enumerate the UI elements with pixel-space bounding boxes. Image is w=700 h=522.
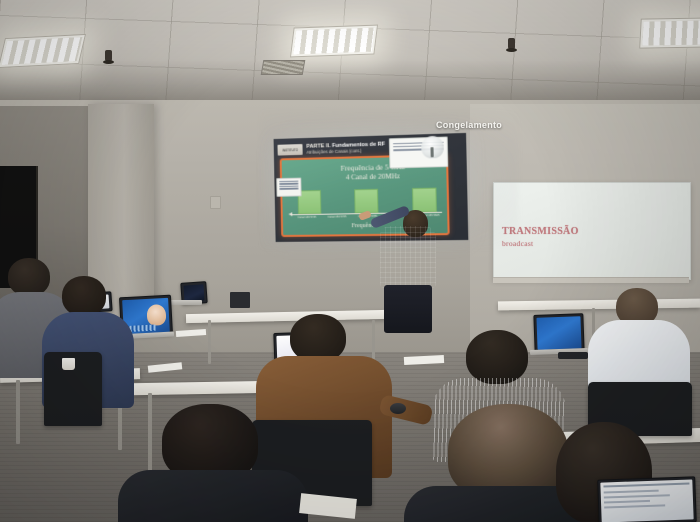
satellite-dish-icon — [421, 136, 444, 159]
desktop-tower — [230, 292, 250, 308]
wall-outlet-icon — [210, 196, 221, 209]
desk-leg — [16, 380, 20, 444]
slide-callout-left — [276, 178, 301, 197]
slide-title-line-2: 4 Canal de 20MHz — [311, 171, 436, 183]
air-vent-icon — [261, 60, 306, 75]
mouse[interactable] — [390, 403, 406, 414]
desk-front-center — [132, 381, 272, 395]
presenter-shirt — [380, 226, 436, 288]
whiteboard-tray — [493, 277, 689, 283]
desk-leg — [372, 320, 375, 360]
channel-label: Canal 153 5765 — [324, 215, 350, 219]
channel-bar — [412, 188, 437, 213]
ceiling-light-panel — [0, 34, 86, 68]
ceiling-light-panel — [290, 25, 378, 58]
ceiling-light-panel — [639, 17, 700, 48]
overlay-caption: Congelamento — [436, 120, 502, 130]
sprinkler-icon — [508, 38, 515, 49]
laptop-right-blue[interactable] — [533, 313, 584, 353]
desk-leg — [148, 393, 152, 471]
slide-logo: INSTITUTO — [277, 144, 302, 156]
channel-bar — [354, 189, 378, 213]
sprinkler-icon — [105, 50, 112, 61]
projected-slide: INSTITUTO PARTE II. Fundamentos de RF At… — [274, 133, 469, 242]
presenter-pants — [384, 285, 432, 333]
laptop-foreground[interactable] — [597, 476, 697, 522]
paper-cup — [62, 358, 75, 370]
desk-leg — [208, 320, 211, 364]
channel-label: Canal 149 5745 — [294, 216, 319, 220]
device-black-box — [558, 352, 588, 359]
slide-header-line-2: Atribuições de Canais (cont.) — [306, 148, 385, 155]
classroom-photo: TRANSMISSÃO broadcast INSTITUTO PARTE II… — [0, 0, 700, 522]
